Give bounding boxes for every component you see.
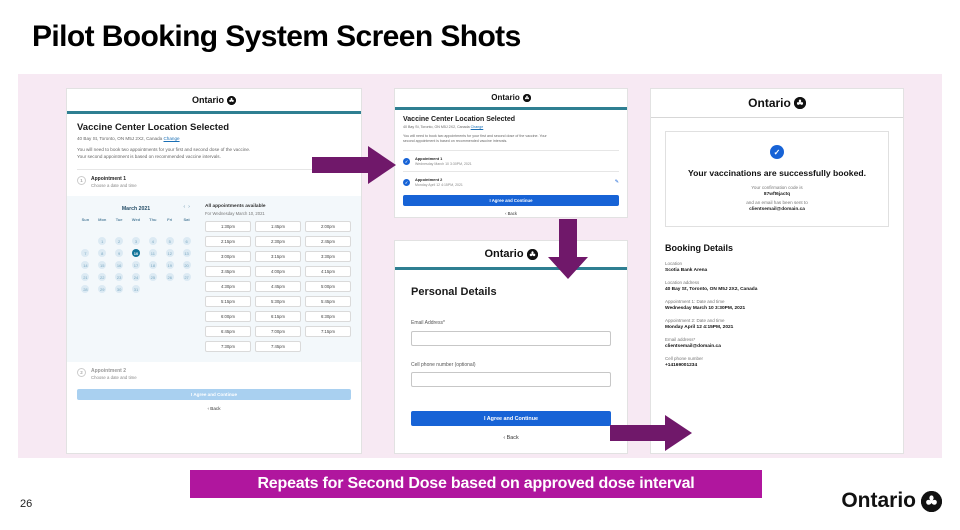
time-slot-button[interactable]: 4:30pm bbox=[205, 281, 251, 292]
calendar-day-chip bbox=[81, 237, 89, 245]
calendar-day[interactable]: 15 bbox=[94, 260, 111, 270]
time-slot-button[interactable]: 2:45pm bbox=[305, 236, 351, 247]
calendar-day[interactable]: 21 bbox=[77, 272, 94, 282]
calendar-day-chip bbox=[166, 285, 174, 293]
calendar-day-chip[interactable]: 7 bbox=[81, 249, 89, 257]
appointment-2-row[interactable]: ✓ Appointment 2 Monday April 12 4:15PM, … bbox=[403, 177, 619, 187]
screen2-title: Vaccine Center Location Selected bbox=[403, 116, 619, 123]
booking-detail-item: Cell phone number+14169001234 bbox=[665, 356, 889, 368]
screen1-submit-button[interactable]: I Agree and Continue bbox=[77, 389, 351, 400]
appointment-1-name: Appointment 1 bbox=[415, 156, 619, 161]
calendar-day-empty bbox=[178, 224, 195, 234]
appointment-2-name: Appointment 2 bbox=[91, 368, 137, 374]
appointment-1-name: Appointment 1 bbox=[91, 176, 137, 182]
time-slot-button[interactable]: 6:30pm bbox=[305, 311, 351, 322]
calendar-day-chip[interactable]: 25 bbox=[149, 273, 157, 281]
calendar-day[interactable]: 23 bbox=[111, 272, 128, 282]
calendar-day-chip[interactable]: 23 bbox=[115, 273, 123, 281]
calendar-day[interactable]: 28 bbox=[77, 284, 94, 294]
booking-detail-label: Cell phone number bbox=[665, 356, 889, 361]
email-field[interactable] bbox=[411, 331, 611, 346]
screen2-divider-1 bbox=[403, 150, 619, 151]
success-heading: Your vaccinations are successfully booke… bbox=[678, 168, 876, 178]
calendar-day-chip[interactable]: 5 bbox=[166, 237, 174, 245]
booking-detail-item: Appointment 1: Date and timeWednesday Ma… bbox=[665, 299, 889, 311]
screenshot-booking-calendar: Ontario Vaccine Center Location Selected… bbox=[66, 88, 362, 454]
appointment-1-check-icon: ✓ bbox=[403, 158, 410, 165]
confirmation-code: 87wft6jactq bbox=[678, 192, 876, 197]
time-slot-button[interactable]: 6:00pm bbox=[205, 311, 251, 322]
page-title: Pilot Booking System Screen Shots bbox=[32, 20, 521, 54]
success-check-icon: ✓ bbox=[770, 145, 784, 159]
calendar-widget[interactable]: March 2021 ‹› Sun Mon Tue Wed Thu Fri Sa… bbox=[77, 204, 195, 352]
calendar-day-chip[interactable]: 6 bbox=[183, 237, 191, 245]
time-slot-button[interactable]: 2:30pm bbox=[255, 236, 301, 247]
calendar-day-chip[interactable]: 26 bbox=[166, 273, 174, 281]
time-slot-button[interactable]: 4:00pm bbox=[255, 266, 301, 277]
calendar-day-chip bbox=[98, 225, 106, 233]
appointment-1-value: Wednesday March 10 3:30PM, 2021 bbox=[415, 162, 619, 166]
screen2-header: Ontario bbox=[395, 89, 627, 107]
screen3-header: Ontario bbox=[395, 241, 627, 267]
calendar-dow: Tue bbox=[111, 217, 128, 222]
calendar-day-chip bbox=[132, 225, 140, 233]
arrow-screen1-to-screen2 bbox=[312, 146, 396, 184]
calendar-day-chip bbox=[166, 225, 174, 233]
booking-detail-label: Appointment 2: Date and time bbox=[665, 318, 889, 323]
calendar-next-icon[interactable]: › bbox=[188, 204, 193, 210]
booking-detail-value: 40 Bay St, Toronto, ON M5J 2X2, Canada bbox=[665, 287, 889, 292]
calendar-dow-row: Sun Mon Tue Wed Thu Fri Sat bbox=[77, 217, 195, 222]
booking-detail-label: Location bbox=[665, 261, 889, 266]
time-slot-button[interactable]: 7:30pm bbox=[205, 341, 251, 352]
calendar-day-chip[interactable]: 8 bbox=[98, 249, 106, 257]
time-slot-button[interactable]: 5:00pm bbox=[305, 281, 351, 292]
calendar-day-empty bbox=[144, 284, 161, 294]
screen1-address: 40 Bay St, Toronto, ON M5J 2X2, Canada C… bbox=[77, 136, 351, 141]
booking-detail-item: Email address*clientsemail@domain.ca bbox=[665, 337, 889, 349]
calendar-day-chip bbox=[115, 225, 123, 233]
calendar-day[interactable]: 13 bbox=[178, 248, 195, 258]
calendar-dow: Thu bbox=[144, 217, 161, 222]
booking-detail-label: Location address bbox=[665, 280, 889, 285]
time-slot-button[interactable]: 7:00pm bbox=[255, 326, 301, 337]
calendar-day[interactable]: 1 bbox=[94, 236, 111, 246]
calendar-day-chip[interactable]: 27 bbox=[183, 273, 191, 281]
calendar-day[interactable]: 17 bbox=[128, 260, 145, 270]
calendar-day-empty bbox=[77, 224, 94, 234]
calendar-day-chip[interactable]: 30 bbox=[115, 285, 123, 293]
calendar-month-label: March 2021 bbox=[122, 206, 150, 212]
booking-detail-value: Scotia Bank Arena bbox=[665, 268, 889, 273]
booking-detail-label: Appointment 1: Date and time bbox=[665, 299, 889, 304]
calendar-day[interactable]: 19 bbox=[161, 260, 178, 270]
booking-details-list: LocationScotia Bank ArenaLocation addres… bbox=[665, 261, 889, 368]
calendar-day[interactable]: 25 bbox=[144, 272, 161, 282]
calendar-day-chip[interactable]: 24 bbox=[132, 273, 140, 281]
booking-details-title: Booking Details bbox=[665, 243, 889, 253]
time-slot-button[interactable]: 1:30pm bbox=[205, 221, 251, 232]
calendar-day-chip[interactable]: 31 bbox=[132, 285, 140, 293]
screen1-title: Vaccine Center Location Selected bbox=[77, 122, 351, 133]
time-slot-button[interactable]: 5:15pm bbox=[205, 296, 251, 307]
booking-detail-value: +14169001234 bbox=[665, 363, 889, 368]
ontario-wordmark: Ontario bbox=[748, 97, 791, 109]
time-slot-button[interactable]: 3:45pm bbox=[205, 266, 251, 277]
calendar-day-grid[interactable]: 1234567891011121314151617181920212223242… bbox=[77, 224, 195, 294]
calendar-day-empty bbox=[111, 224, 128, 234]
appointment-2-header[interactable]: 2 Appointment 2 Choose a date and time bbox=[77, 368, 351, 380]
edit-pencil-icon[interactable]: ✎ bbox=[615, 179, 619, 185]
time-slot-button[interactable]: 4:45pm bbox=[255, 281, 301, 292]
time-slot-button[interactable]: 1:45pm bbox=[255, 221, 301, 232]
time-slot-button[interactable]: 6:45pm bbox=[205, 326, 251, 337]
screen2-back-link[interactable]: ‹ Back bbox=[403, 211, 619, 216]
time-slot-button[interactable]: 2:15pm bbox=[205, 236, 251, 247]
screen1-paragraph: You will need to book two appointments f… bbox=[77, 147, 255, 160]
time-slot-button[interactable]: 7:15pm bbox=[305, 326, 351, 337]
slots-heading: All appointments available bbox=[205, 204, 351, 209]
calendar-day-empty bbox=[161, 224, 178, 234]
calendar-day-chip bbox=[149, 225, 157, 233]
screen1-header: Ontario bbox=[67, 89, 361, 111]
footer-ontario-logo: Ontario bbox=[841, 489, 942, 513]
calendar-day[interactable]: 18 bbox=[144, 260, 161, 270]
calendar-day-empty bbox=[94, 224, 111, 234]
booking-detail-label: Email address* bbox=[665, 337, 889, 342]
change-location-link[interactable]: Change bbox=[471, 125, 484, 129]
calendar-day[interactable]: 14 bbox=[77, 260, 94, 270]
calendar-day-empty bbox=[161, 284, 178, 294]
calendar-day[interactable]: 11 bbox=[144, 248, 161, 258]
ontario-logo: Ontario bbox=[491, 94, 530, 102]
ontario-wordmark: Ontario bbox=[484, 249, 523, 260]
calendar-day-chip[interactable]: 1 bbox=[98, 237, 106, 245]
calendar-day-chip[interactable]: 11 bbox=[149, 249, 157, 257]
calendar-dow: Sun bbox=[77, 217, 94, 222]
ontario-wordmark: Ontario bbox=[192, 96, 224, 105]
calendar-day-chip[interactable]: 20 bbox=[183, 261, 191, 269]
calendar-day-chip[interactable]: 22 bbox=[98, 273, 106, 281]
confirmation-email: clientsemail@domain.ca bbox=[678, 207, 876, 212]
calendar-dow: Sat bbox=[178, 217, 195, 222]
calendar-day-chip[interactable]: 17 bbox=[132, 261, 140, 269]
calendar-day-chip[interactable]: 15 bbox=[98, 261, 106, 269]
calendar-day[interactable]: 27 bbox=[178, 272, 195, 282]
screen2-address: 40 Bay St, Toronto, ON M5J 2X2, Canada C… bbox=[403, 125, 619, 129]
arrow-screen3-to-screen4 bbox=[610, 415, 692, 451]
ontario-wordmark: Ontario bbox=[491, 94, 519, 102]
ontario-logo: Ontario bbox=[192, 96, 236, 105]
calendar-day[interactable]: 7 bbox=[77, 248, 94, 258]
time-slot-picker[interactable]: All appointments available For Wednesday… bbox=[205, 204, 351, 352]
calendar-day[interactable]: 24 bbox=[128, 272, 145, 282]
screenshot-personal-details: Ontario Personal Details Email Address* … bbox=[394, 240, 628, 454]
trillium-icon bbox=[227, 96, 236, 105]
appointment-2-check-icon: ✓ bbox=[403, 179, 410, 186]
calendar-day[interactable]: 16 bbox=[111, 260, 128, 270]
calendar-day-chip[interactable]: 4 bbox=[149, 237, 157, 245]
time-slot-button[interactable]: 5:30pm bbox=[255, 296, 301, 307]
booking-detail-value: Wednesday March 10 3:30PM, 2021 bbox=[665, 306, 889, 311]
calendar-day[interactable]: 2 bbox=[111, 236, 128, 246]
appointment-1-header[interactable]: 1 Appointment 1 Choose a date and time bbox=[77, 176, 351, 188]
calendar-day[interactable]: 20 bbox=[178, 260, 195, 270]
calendar-day-empty bbox=[77, 236, 94, 246]
appointment-1-row[interactable]: ✓ Appointment 1 Wednesday March 10 3:30P… bbox=[403, 156, 619, 166]
screen3-back-link[interactable]: ‹ Back bbox=[411, 435, 611, 441]
calendar-day-empty bbox=[178, 284, 195, 294]
trillium-icon bbox=[794, 97, 806, 109]
confirmation-code-intro: Your confirmation code is bbox=[678, 185, 876, 190]
screen3-submit-button[interactable]: I Agree and Continue bbox=[411, 411, 611, 426]
appointment-1-badge: 1 bbox=[77, 176, 86, 185]
time-slot-button[interactable]: 5:45pm bbox=[305, 296, 351, 307]
screen1-back-link[interactable]: ‹ Back bbox=[77, 406, 351, 411]
calendar-day-chip bbox=[183, 285, 191, 293]
calendar-dow: Fri bbox=[161, 217, 178, 222]
booking-detail-item: LocationScotia Bank Arena bbox=[665, 261, 889, 273]
time-slot-button[interactable]: 6:15pm bbox=[255, 311, 301, 322]
trillium-icon bbox=[523, 94, 531, 102]
calendar-day[interactable]: 29 bbox=[94, 284, 111, 294]
appointment-2-value: Monday April 12 4:15PM, 2021 bbox=[415, 183, 610, 187]
calendar-day-empty bbox=[144, 224, 161, 234]
calendar-day[interactable]: 9 bbox=[111, 248, 128, 258]
page-number: 26 bbox=[20, 498, 32, 510]
calendar-day[interactable]: 6 bbox=[178, 236, 195, 246]
calendar-day[interactable]: 22 bbox=[94, 272, 111, 282]
screen1-divider-1 bbox=[77, 169, 351, 170]
calendar-day[interactable]: 30 bbox=[111, 284, 128, 294]
screen2-divider-2 bbox=[403, 171, 619, 172]
booking-detail-value: Monday April 12 4:15PM, 2021 bbox=[665, 325, 889, 330]
trillium-icon bbox=[921, 491, 942, 512]
calendar-day-chip[interactable]: 19 bbox=[166, 261, 174, 269]
confirmation-email-intro: and an email has been sent to bbox=[678, 200, 876, 205]
screenshot-appointments-selected: Ontario Vaccine Center Location Selected… bbox=[394, 88, 628, 218]
booking-detail-item: Location address40 Bay St, Toronto, ON M… bbox=[665, 280, 889, 292]
calendar-nav[interactable]: ‹› bbox=[183, 204, 193, 210]
trillium-icon bbox=[527, 249, 538, 260]
ontario-logo: Ontario bbox=[484, 249, 537, 260]
slot-grid[interactable]: 1:30pm1:45pm2:00pm2:15pm2:30pm2:45pm3:00… bbox=[205, 221, 351, 352]
calendar-day-chip[interactable]: 16 bbox=[115, 261, 123, 269]
screen4-header: Ontario bbox=[651, 89, 903, 117]
calendar-day-chip[interactable]: 3 bbox=[132, 237, 140, 245]
calendar-day[interactable]: 26 bbox=[161, 272, 178, 282]
change-location-link[interactable]: Change bbox=[163, 136, 179, 141]
calendar-day-chip[interactable]: 10 bbox=[132, 249, 140, 257]
screen2-paragraph: You will need to book two appointments f… bbox=[403, 134, 553, 144]
calendar-day-chip[interactable]: 2 bbox=[115, 237, 123, 245]
booking-detail-value: clientsemail@domain.ca bbox=[665, 344, 889, 349]
calendar-day-chip[interactable]: 14 bbox=[81, 261, 89, 269]
time-slot-button[interactable]: 3:00pm bbox=[205, 251, 251, 262]
ontario-logo: Ontario bbox=[748, 97, 806, 109]
screen2-submit-button[interactable]: I Agree and Continue bbox=[403, 195, 619, 206]
time-slot-button[interactable]: 4:15pm bbox=[305, 266, 351, 277]
calendar-day[interactable]: 31 bbox=[128, 284, 145, 294]
calendar-dow: Mon bbox=[94, 217, 111, 222]
calendar-day-empty bbox=[128, 224, 145, 234]
calendar-header: March 2021 ‹› bbox=[77, 204, 195, 214]
calendar-day-chip bbox=[183, 225, 191, 233]
calendar-day-chip[interactable]: 28 bbox=[81, 285, 89, 293]
calendar-day[interactable]: 12 bbox=[161, 248, 178, 258]
calendar-day-chip[interactable]: 13 bbox=[183, 249, 191, 257]
phone-field[interactable] bbox=[411, 372, 611, 387]
calendar-day-chip bbox=[81, 225, 89, 233]
calendar-day[interactable]: 4 bbox=[144, 236, 161, 246]
appointment-2-name: Appointment 2 bbox=[415, 177, 610, 182]
email-field-label: Email Address* bbox=[411, 320, 611, 326]
calendar-day-chip[interactable]: 18 bbox=[149, 261, 157, 269]
calendar-day[interactable]: 8 bbox=[94, 248, 111, 258]
appointment-2-badge: 2 bbox=[77, 368, 86, 377]
calendar-day-chip[interactable]: 29 bbox=[98, 285, 106, 293]
calendar-day-chip bbox=[149, 285, 157, 293]
calendar-day[interactable]: 5 bbox=[161, 236, 178, 246]
time-slot-button[interactable]: 3:30pm bbox=[305, 251, 351, 262]
date-time-picker: March 2021 ‹› Sun Mon Tue Wed Thu Fri Sa… bbox=[67, 196, 361, 362]
calendar-day-chip[interactable]: 12 bbox=[166, 249, 174, 257]
calendar-day[interactable]: 3 bbox=[128, 236, 145, 246]
screenshot-confirmation: Ontario ✓ Your vaccinations are successf… bbox=[650, 88, 904, 454]
time-slot-button[interactable]: 7:45pm bbox=[255, 341, 301, 352]
arrow-screen2-to-screen3 bbox=[548, 219, 588, 279]
calendar-day-chip[interactable]: 9 bbox=[115, 249, 123, 257]
calendar-day[interactable]: 10 bbox=[128, 248, 145, 258]
slots-subheading: For Wednesday March 10, 2021 bbox=[205, 211, 351, 216]
bottom-banner: Repeats for Second Dose based on approve… bbox=[190, 470, 762, 498]
calendar-day-chip[interactable]: 21 bbox=[81, 273, 89, 281]
footer-wordmark: Ontario bbox=[841, 489, 916, 513]
time-slot-button[interactable]: 3:15pm bbox=[255, 251, 301, 262]
phone-field-label: Cell phone number (optional) bbox=[411, 362, 611, 368]
appointment-1-desc: Choose a date and time bbox=[91, 183, 137, 188]
booking-detail-item: Appointment 2: Date and timeMonday April… bbox=[665, 318, 889, 330]
calendar-dow: Wed bbox=[128, 217, 145, 222]
time-slot-button[interactable]: 2:00pm bbox=[305, 221, 351, 232]
screen3-title: Personal Details bbox=[411, 286, 611, 298]
confirmation-card: ✓ Your vaccinations are successfully boo… bbox=[665, 131, 889, 227]
appointment-2-desc: Choose a date and time bbox=[91, 375, 137, 380]
